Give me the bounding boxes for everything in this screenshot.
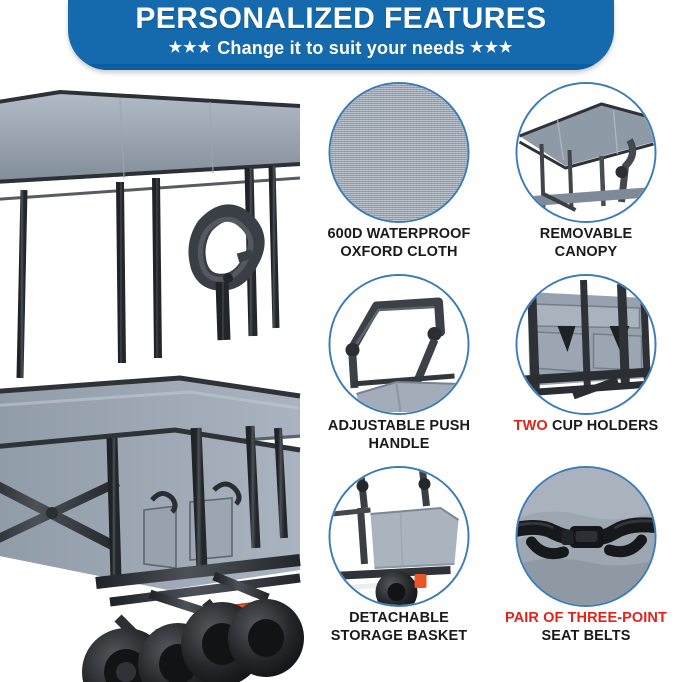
feature-caption: ADJUSTABLE PUSH HANDLE (300, 418, 498, 453)
feature-caption: REMOVABLE CANOPY (487, 226, 679, 261)
stars-left-icon: ★★★ (169, 39, 212, 56)
feature-caption: DETACHABLE STORAGE BASKET (300, 610, 498, 645)
caption-highlight: TWO (514, 418, 548, 434)
canopy-icon (516, 82, 657, 223)
caption-highlight: PAIR OF THREE-POINT (487, 610, 679, 628)
feature-caption: 600D WATERPROOF OXFORD CLOTH (300, 226, 498, 261)
feature-item-storage-basket[interactable]: DETACHABLE STORAGE BASKET (306, 464, 492, 664)
header-banner-area: PERSONALIZED FEATURES ★★★ Change it to s… (0, 0, 679, 76)
feature-item-cup-holders[interactable]: TWO CUP HOLDERS (493, 272, 679, 472)
storage-basket-icon (329, 466, 470, 607)
seat-belt-icon (516, 466, 657, 607)
product-image (0, 78, 306, 682)
caption-rest: SEAT BELTS (487, 628, 679, 646)
page-title: PERSONALIZED FEATURES (68, 2, 614, 36)
handle-grip (197, 213, 256, 340)
caption-rest: CUP HOLDERS (552, 418, 658, 434)
push-handle-icon (329, 274, 470, 415)
wagon-illustration (0, 78, 306, 682)
feature-caption: TWO CUP HOLDERS (487, 418, 679, 436)
feature-caption: PAIR OF THREE-POINT SEAT BELTS (487, 610, 679, 645)
feature-item-push-handle[interactable]: ADJUSTABLE PUSH HANDLE (306, 272, 492, 472)
feature-item-removable-canopy[interactable]: REMOVABLE CANOPY (493, 80, 679, 280)
feature-item-oxford-cloth[interactable]: 600D WATERPROOF OXFORD CLOTH (306, 80, 492, 280)
subtitle-text: Change it to suit your needs (217, 38, 465, 58)
page-subtitle: ★★★ Change it to suit your needs ★★★ (68, 37, 614, 59)
header-banner: PERSONALIZED FEATURES ★★★ Change it to s… (68, 0, 614, 70)
feature-grid: 600D WATERPROOF OXFORD CLOTH (306, 80, 679, 682)
feature-item-seat-belts[interactable]: PAIR OF THREE-POINT SEAT BELTS (493, 464, 679, 664)
stars-right-icon: ★★★ (470, 39, 513, 56)
fabric-swatch-icon (329, 82, 470, 223)
cup-holders-icon (516, 274, 657, 415)
